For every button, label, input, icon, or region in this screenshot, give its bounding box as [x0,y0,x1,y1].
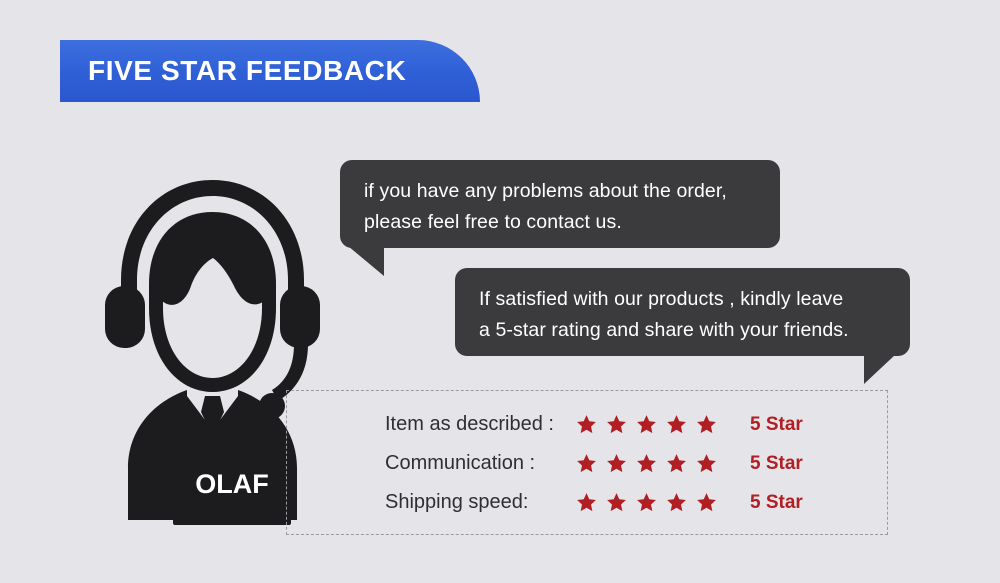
rating-row: Item as described : 5 Star [385,405,885,444]
rating-request-line-2: a 5-star rating and share with your frie… [479,315,888,346]
star-icon [695,491,718,514]
speech-tail-icon [348,246,384,276]
rating-stars [575,452,750,475]
star-icon [695,452,718,475]
laptop-brand-label: OLAF [195,469,269,499]
star-icon [635,413,658,436]
star-icon [605,452,628,475]
laptop-base-bar [173,513,291,525]
rating-value: 5 Star [750,414,803,436]
rating-value: 5 Star [750,453,803,475]
header-banner: FIVE STAR FEEDBACK [60,40,480,102]
star-icon [635,491,658,514]
rating-label: Communication : [385,452,575,475]
star-icon [575,413,598,436]
rating-value: 5 Star [750,492,803,514]
headset-earcup-right-icon [280,286,320,348]
rating-stars [575,413,750,436]
rating-request-line-1: If satisfied with our products , kindly … [479,284,888,315]
rating-label: Item as described : [385,413,575,436]
star-icon [665,452,688,475]
rating-label: Shipping speed: [385,491,575,514]
star-icon [665,491,688,514]
headset-earcup-left-icon [105,286,145,348]
rating-row: Shipping speed: 5 Star [385,483,885,522]
rating-request-bubble: If satisfied with our products , kindly … [455,268,910,356]
support-bubble-line-2: please feel free to contact us. [364,207,758,238]
support-bubble-line-1: if you have any problems about the order… [364,176,758,207]
star-icon [605,491,628,514]
star-icon [695,413,718,436]
star-icon [575,452,598,475]
star-icon [575,491,598,514]
star-icon [665,413,688,436]
rating-stars [575,491,750,514]
support-bubble: if you have any problems about the order… [340,160,780,248]
feedback-banner-image: FIVE STAR FEEDBACK if you have any probl… [0,0,1000,583]
speech-tail-icon [864,354,896,384]
page-title: FIVE STAR FEEDBACK [88,55,406,87]
rating-row: Communication : 5 Star [385,444,885,483]
star-icon [605,413,628,436]
star-icon [635,452,658,475]
rating-row-list: Item as described : 5 Star Communication… [385,405,885,522]
ratings-panel: Item as described : 5 Star Communication… [286,390,888,535]
